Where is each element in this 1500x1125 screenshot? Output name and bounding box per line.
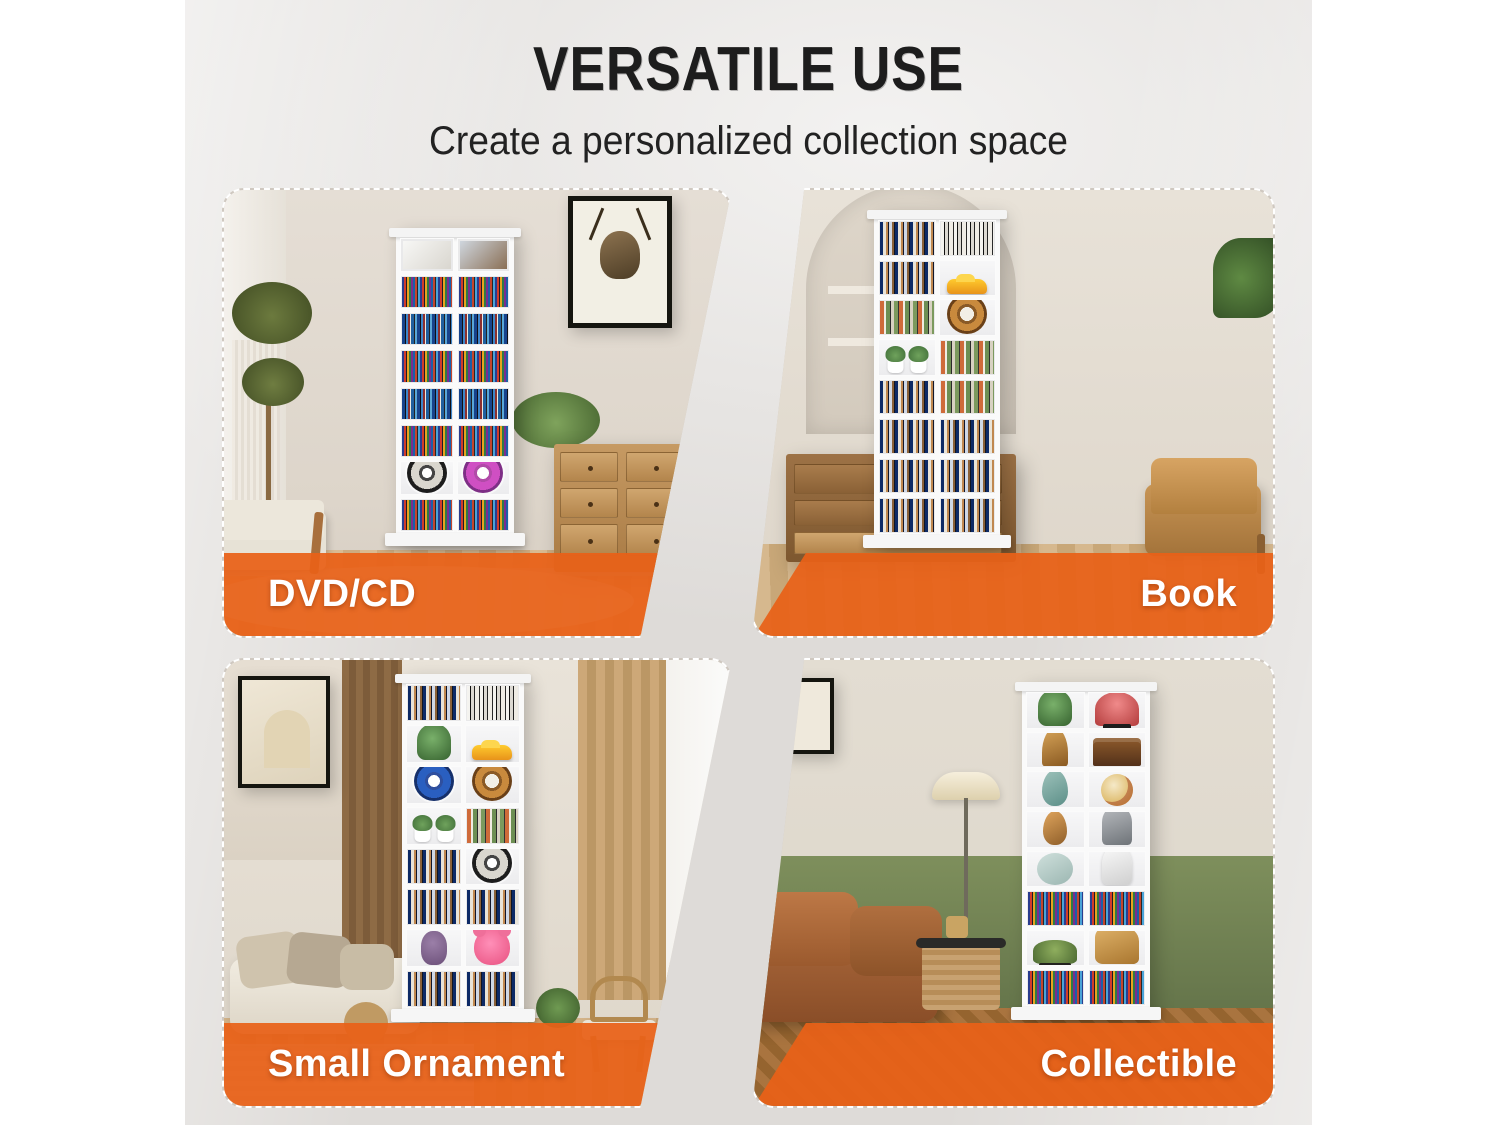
green-figurine-ornament: [417, 725, 451, 760]
amber-cylinder-vase: [1043, 811, 1067, 845]
disc-ornament: [407, 461, 447, 493]
ceramic-pitcher-ornament: [1101, 774, 1133, 806]
shelf-cell: [939, 260, 997, 297]
drawer: [626, 488, 684, 518]
rattan-side-table: [922, 944, 1000, 1010]
basket-plant-foliage: [512, 392, 600, 448]
tower-shelf-grid: [400, 238, 510, 532]
shelf-cell: [878, 379, 936, 416]
deer-figurine-ornament: [421, 931, 447, 965]
disc-ornament: [463, 461, 503, 493]
panel-collectible[interactable]: Collectible: [752, 658, 1275, 1108]
caption-band-small-ornament: Small Ornament: [224, 1023, 730, 1106]
caption-label: Collectible: [1040, 1043, 1237, 1086]
potted-succulents: [887, 359, 926, 373]
marketing-image: VERSATILE USE Create a personalized coll…: [0, 0, 1500, 1125]
shelf-cell: [406, 807, 462, 845]
shelf-cell: [400, 312, 454, 346]
panel-small-ornament[interactable]: Small Ornament: [222, 658, 732, 1108]
shelf-cell: [878, 299, 936, 336]
shelf-cell: [1026, 692, 1085, 729]
shelf-cell: [400, 238, 454, 272]
drawer: [626, 452, 684, 482]
shelf-cell: [400, 498, 454, 532]
shelf-cell: [400, 424, 454, 458]
toy-car-ornament: [947, 279, 987, 294]
teddy-bear-ornament: [474, 929, 510, 964]
tower-base: [391, 1009, 535, 1022]
throw-pillow: [340, 944, 394, 990]
tower-base: [863, 535, 1011, 548]
small-plant: [536, 988, 580, 1028]
shelf-cell: [400, 275, 454, 309]
media-storage-tower: [874, 210, 1000, 548]
shelf-cell: [465, 725, 521, 763]
armchair-back: [222, 500, 324, 540]
shelf-cell: [1088, 692, 1147, 729]
houseplant-foliage: [1213, 238, 1275, 318]
shelf-cell: [1088, 732, 1147, 769]
shelf-cell: [457, 312, 511, 346]
amber-trophy-vase: [1042, 732, 1068, 766]
panel-row-top: DVD/CD: [0, 188, 1500, 638]
antler-left: [589, 208, 605, 241]
shelf-cell: [939, 458, 997, 495]
tower-top-cap: [1015, 682, 1157, 691]
drawer: [560, 452, 618, 482]
media-storage-tower: [396, 228, 514, 546]
shelf-cell: [465, 766, 521, 804]
lounge-chair-back: [1151, 458, 1257, 514]
tower-base: [385, 533, 525, 546]
shelf-cell: [465, 848, 521, 886]
drawer: [626, 524, 684, 556]
shelf-cell: [939, 220, 997, 257]
donut-disc-ornament: [472, 766, 512, 801]
shelf-cell: [465, 929, 521, 967]
tower-base: [1011, 1007, 1161, 1020]
shelf-cell: [939, 497, 997, 534]
panel-dvd-cd[interactable]: DVD/CD: [222, 188, 732, 638]
header: VERSATILE USE Create a personalized coll…: [185, 34, 1312, 164]
shelf-cell: [457, 424, 511, 458]
leather-sofa-back: [752, 892, 858, 966]
shelf-cell: [878, 418, 936, 455]
shelf-cell: [465, 970, 521, 1008]
plant-foliage-lower: [242, 358, 304, 406]
shelf-cell: [878, 458, 936, 495]
shelf-cell: [1088, 851, 1147, 888]
media-storage-tower: [402, 674, 524, 1022]
shelf-cell: [878, 339, 936, 376]
metal-statue-ornament: [1102, 811, 1132, 845]
drawer: [560, 524, 618, 556]
caption-label: DVD/CD: [268, 573, 416, 616]
shelf-cell: [400, 349, 454, 383]
treasure-chest-ornament: [1093, 738, 1141, 766]
chair-back: [590, 976, 648, 1022]
green-figurine-ornament: [1038, 692, 1072, 726]
wood-wall-panel: [342, 660, 402, 960]
shelf-cell: [406, 888, 462, 926]
shelf-cell: [465, 888, 521, 926]
tower-top-cap: [867, 210, 1007, 219]
shelf-cell: [457, 461, 511, 495]
teal-vase-ornament: [1042, 771, 1068, 805]
curtain: [578, 660, 670, 1000]
shelf-cell: [457, 275, 511, 309]
tower-shelf-grid: [406, 684, 520, 1008]
black-disc-ornament: [472, 848, 512, 883]
page-subtitle: Create a personalized collection space: [224, 119, 1272, 164]
shelf-cell: [1088, 930, 1147, 967]
shelf-cell: [1026, 771, 1085, 808]
shelf-cell: [878, 260, 936, 297]
shelf-cell: [878, 220, 936, 257]
lamp-stand: [964, 798, 968, 918]
shelf-cell: [1088, 890, 1147, 927]
red-coral-ornament: [1095, 692, 1139, 726]
shelf-cell: [400, 387, 454, 421]
shelf-cell: [465, 684, 521, 722]
shelf-cell: [939, 379, 997, 416]
abstract-wall-art: [238, 676, 330, 788]
shelf-cell: [1026, 811, 1085, 848]
tower-top-cap: [389, 228, 521, 237]
shelf-cell: [457, 498, 511, 532]
side-table-top: [916, 938, 1006, 948]
shelf-cell: [1026, 969, 1085, 1006]
shelf-cell: [406, 766, 462, 804]
caption-band-book: Book: [754, 553, 1273, 636]
driftwood-sculpture: [1095, 930, 1139, 964]
shelf-cell: [939, 418, 997, 455]
donut-disc-ornament: [947, 299, 987, 333]
celadon-round-vase: [1037, 853, 1073, 885]
deer-wall-art: [568, 196, 672, 328]
shelf-cell: [406, 929, 462, 967]
shelf-cell: [465, 807, 521, 845]
page-title: VERSATILE USE: [264, 34, 1233, 105]
sheer-curtain: [666, 660, 730, 1020]
potted-succulents: [414, 828, 453, 842]
apothecary-dresser: [554, 444, 694, 572]
shelf-cell: [1088, 771, 1147, 808]
shelf-cell: [1026, 930, 1085, 967]
floor-lamp-shade: [932, 772, 1000, 800]
tower-shelf-grid: [878, 220, 996, 534]
blue-disc-ornament: [414, 766, 454, 801]
caption-band-dvd-cd: DVD/CD: [224, 553, 730, 636]
media-storage-tower: [1022, 682, 1150, 1020]
deer-head: [600, 231, 640, 279]
antler-right: [636, 208, 652, 241]
shelf-cell: [1088, 811, 1147, 848]
caption-band-collectible: Collectible: [754, 1023, 1273, 1106]
shelf-cell: [457, 349, 511, 383]
shelf-cell: [406, 970, 462, 1008]
shelf-cell: [406, 684, 462, 722]
shelf-cell: [1026, 732, 1085, 769]
drawer: [560, 488, 618, 518]
shelf-cell: [457, 387, 511, 421]
shelf-cell: [939, 299, 997, 336]
toy-car-ornament: [472, 745, 512, 760]
shelf-cell: [1026, 890, 1085, 927]
wall-art: [782, 678, 834, 754]
shelf-cell: [457, 238, 511, 272]
caption-label: Book: [1140, 573, 1237, 616]
bonsai-ornament: [1033, 940, 1077, 964]
shelf-cell: [1026, 851, 1085, 888]
plant-foliage-upper: [232, 282, 312, 344]
caption-label: Small Ornament: [268, 1043, 565, 1086]
panel-row-bottom: Small Ornament: [0, 658, 1500, 1108]
shelf-cell: [1088, 969, 1147, 1006]
tower-shelf-grid: [1026, 692, 1146, 1006]
panel-book[interactable]: Book: [752, 188, 1275, 638]
marble-bust-ornament: [1102, 851, 1132, 885]
shelf-cell: [400, 461, 454, 495]
shelf-cell: [406, 725, 462, 763]
shelf-cell: [406, 848, 462, 886]
shelf-cell: [878, 497, 936, 534]
shelf-cell: [939, 339, 997, 376]
table-ornament: [946, 916, 968, 938]
tower-top-cap: [395, 674, 531, 683]
